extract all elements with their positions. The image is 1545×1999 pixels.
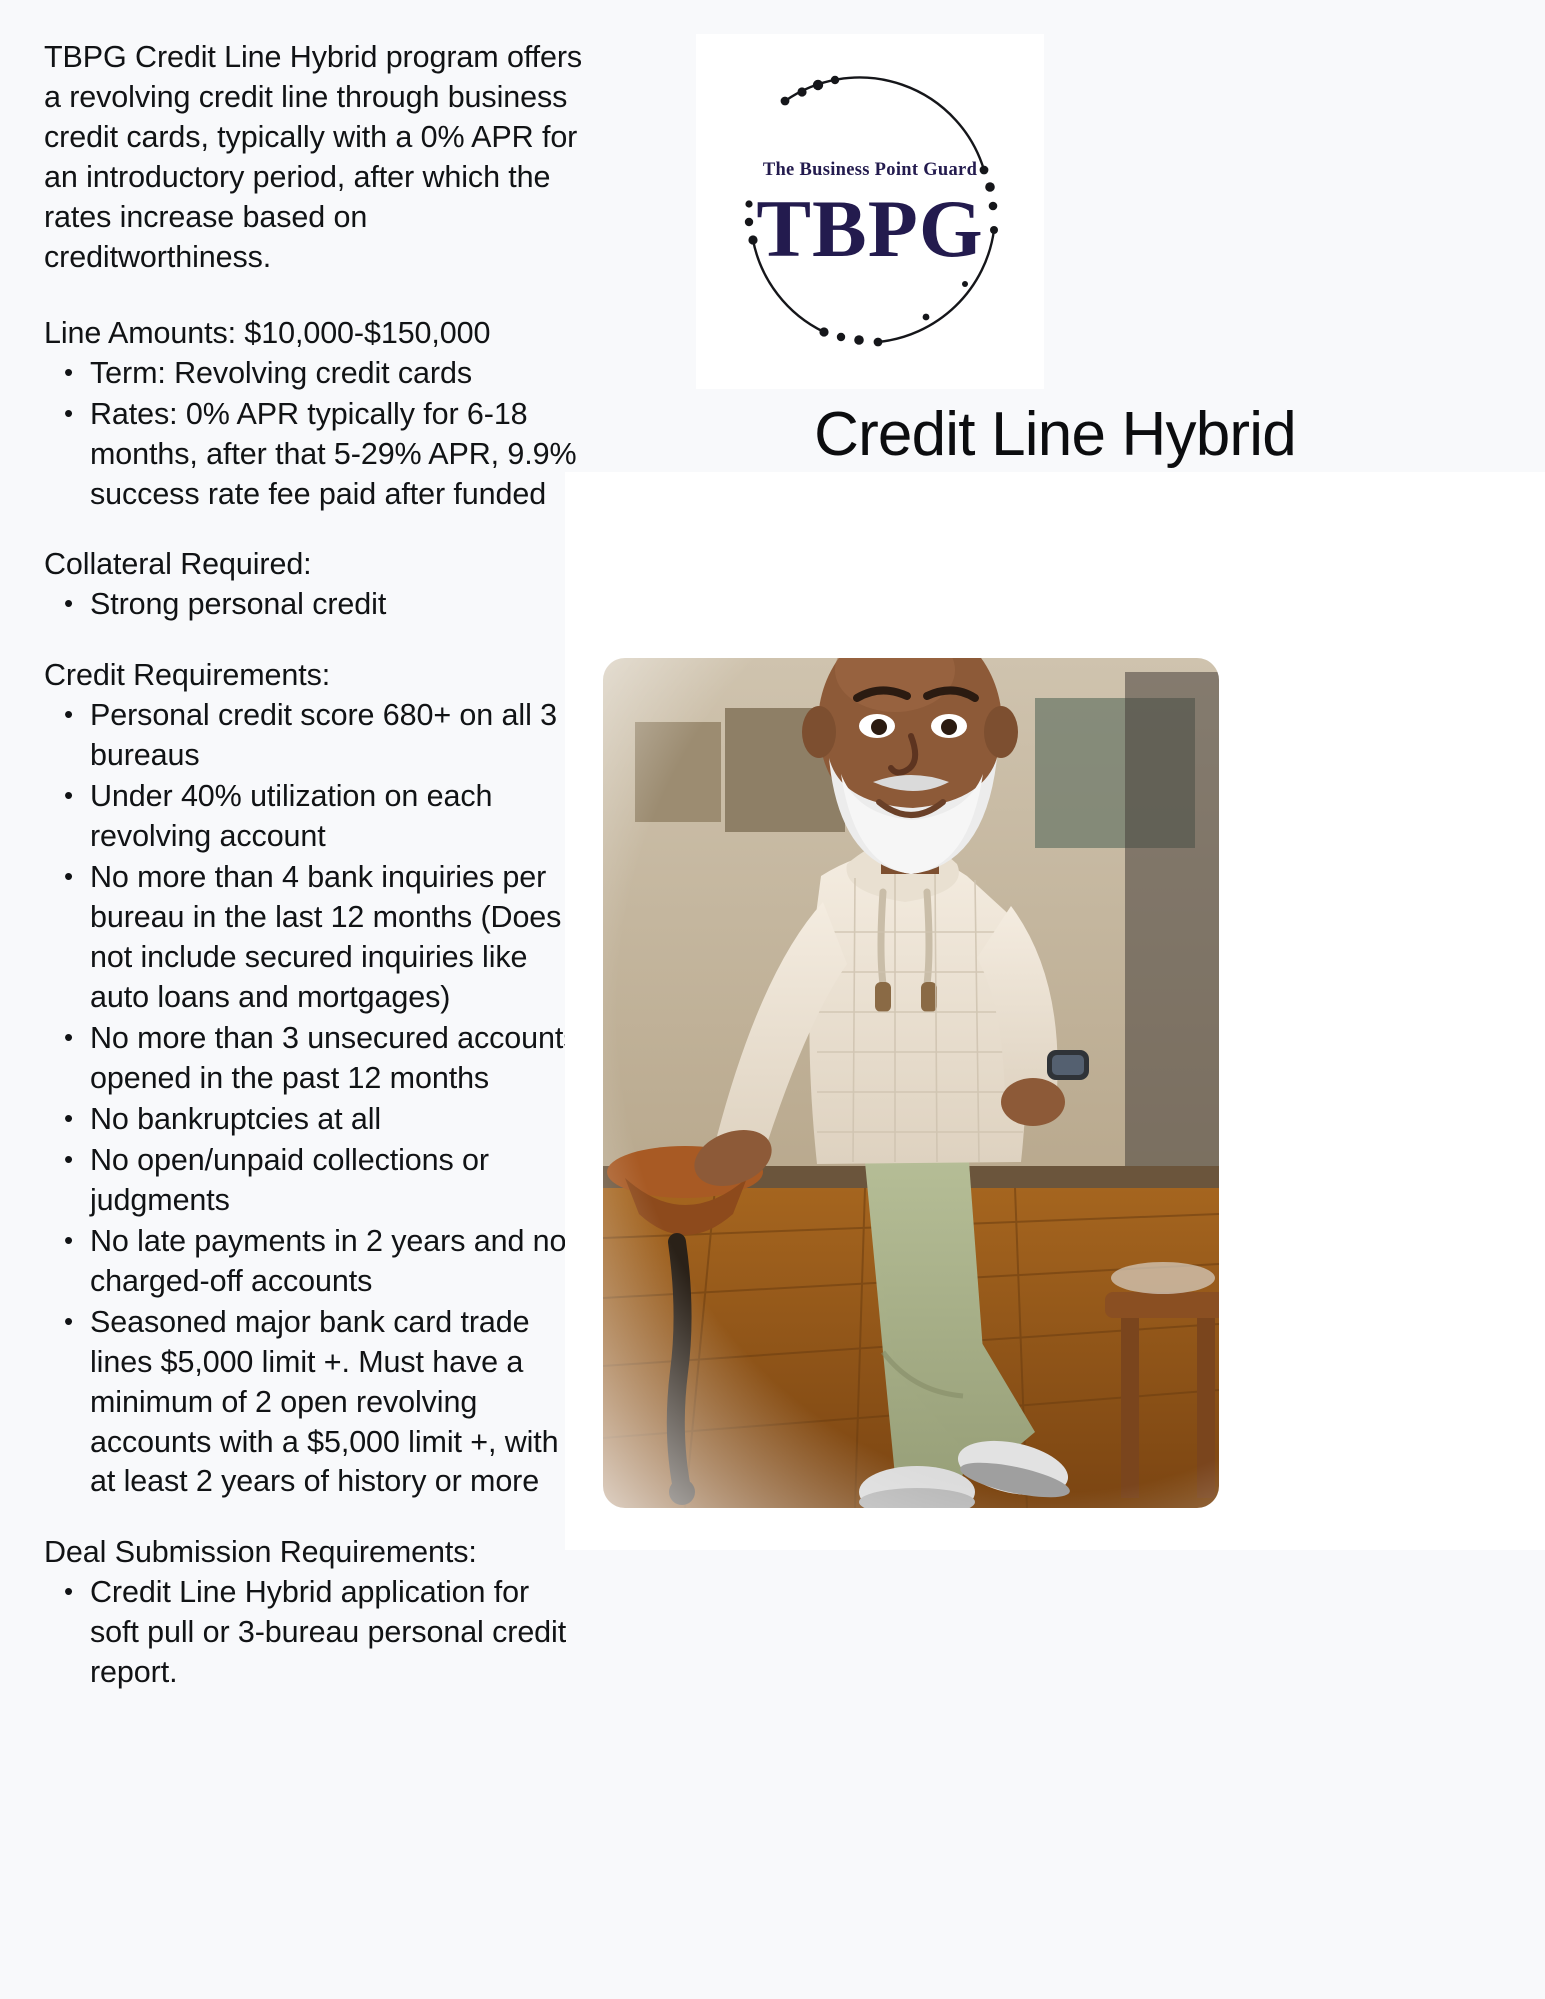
left-text-column: TBPG Credit Line Hybrid program offers a… (44, 38, 584, 1694)
list-item: Term: Revolving credit cards (90, 354, 584, 394)
logo-wordmark: TBPG (720, 188, 1020, 270)
section-list-line-amounts: Term: Revolving credit cards Rates: 0% A… (44, 354, 584, 515)
flyer-page: TBPG Credit Line Hybrid program offers a… (0, 0, 1545, 1999)
spacer (44, 1503, 584, 1533)
section-heading-collateral: Collateral Required: (44, 545, 584, 585)
list-item: No late payments in 2 years and no charg… (90, 1222, 584, 1302)
section-list-collateral: Strong personal credit (44, 585, 584, 625)
logo-card: The Business Point Guard TBPG (696, 34, 1044, 389)
list-item: No bankruptcies at all (90, 1100, 584, 1140)
section-heading-deal-submission: Deal Submission Requirements: (44, 1533, 584, 1573)
section-heading-credit-requirements: Credit Requirements: (44, 656, 584, 696)
list-item: Personal credit score 680+ on all 3 bure… (90, 696, 584, 776)
right-column: The Business Point Guard TBPG Credit Lin… (565, 0, 1545, 1999)
intro-paragraph: TBPG Credit Line Hybrid program offers a… (44, 38, 584, 278)
logo: The Business Point Guard TBPG (720, 62, 1020, 362)
list-item: No open/unpaid collections or judgments (90, 1141, 584, 1221)
page-title: Credit Line Hybrid (565, 399, 1545, 470)
section-heading-line-amounts: Line Amounts: $10,000-$150,000 (44, 314, 584, 354)
list-item: Seasoned major bank card trade lines $5,… (90, 1303, 584, 1503)
logo-tagline: The Business Point Guard (720, 160, 1020, 181)
list-item: Under 40% utilization on each revolving … (90, 777, 584, 857)
caricature-photo (565, 472, 1545, 1550)
spacer (44, 288, 584, 314)
list-item: No more than 3 unsecured accounts opened… (90, 1019, 584, 1099)
list-item: Rates: 0% APR typically for 6-18 months,… (90, 395, 584, 515)
spacer (44, 626, 584, 656)
section-list-credit-requirements: Personal credit score 680+ on all 3 bure… (44, 696, 584, 1502)
list-item: Strong personal credit (90, 585, 584, 625)
spacer (44, 515, 584, 545)
list-item: No more than 4 bank inquiries per bureau… (90, 858, 584, 1018)
section-list-deal-submission: Credit Line Hybrid application for soft … (44, 1573, 584, 1693)
list-item: Credit Line Hybrid application for soft … (90, 1573, 584, 1693)
